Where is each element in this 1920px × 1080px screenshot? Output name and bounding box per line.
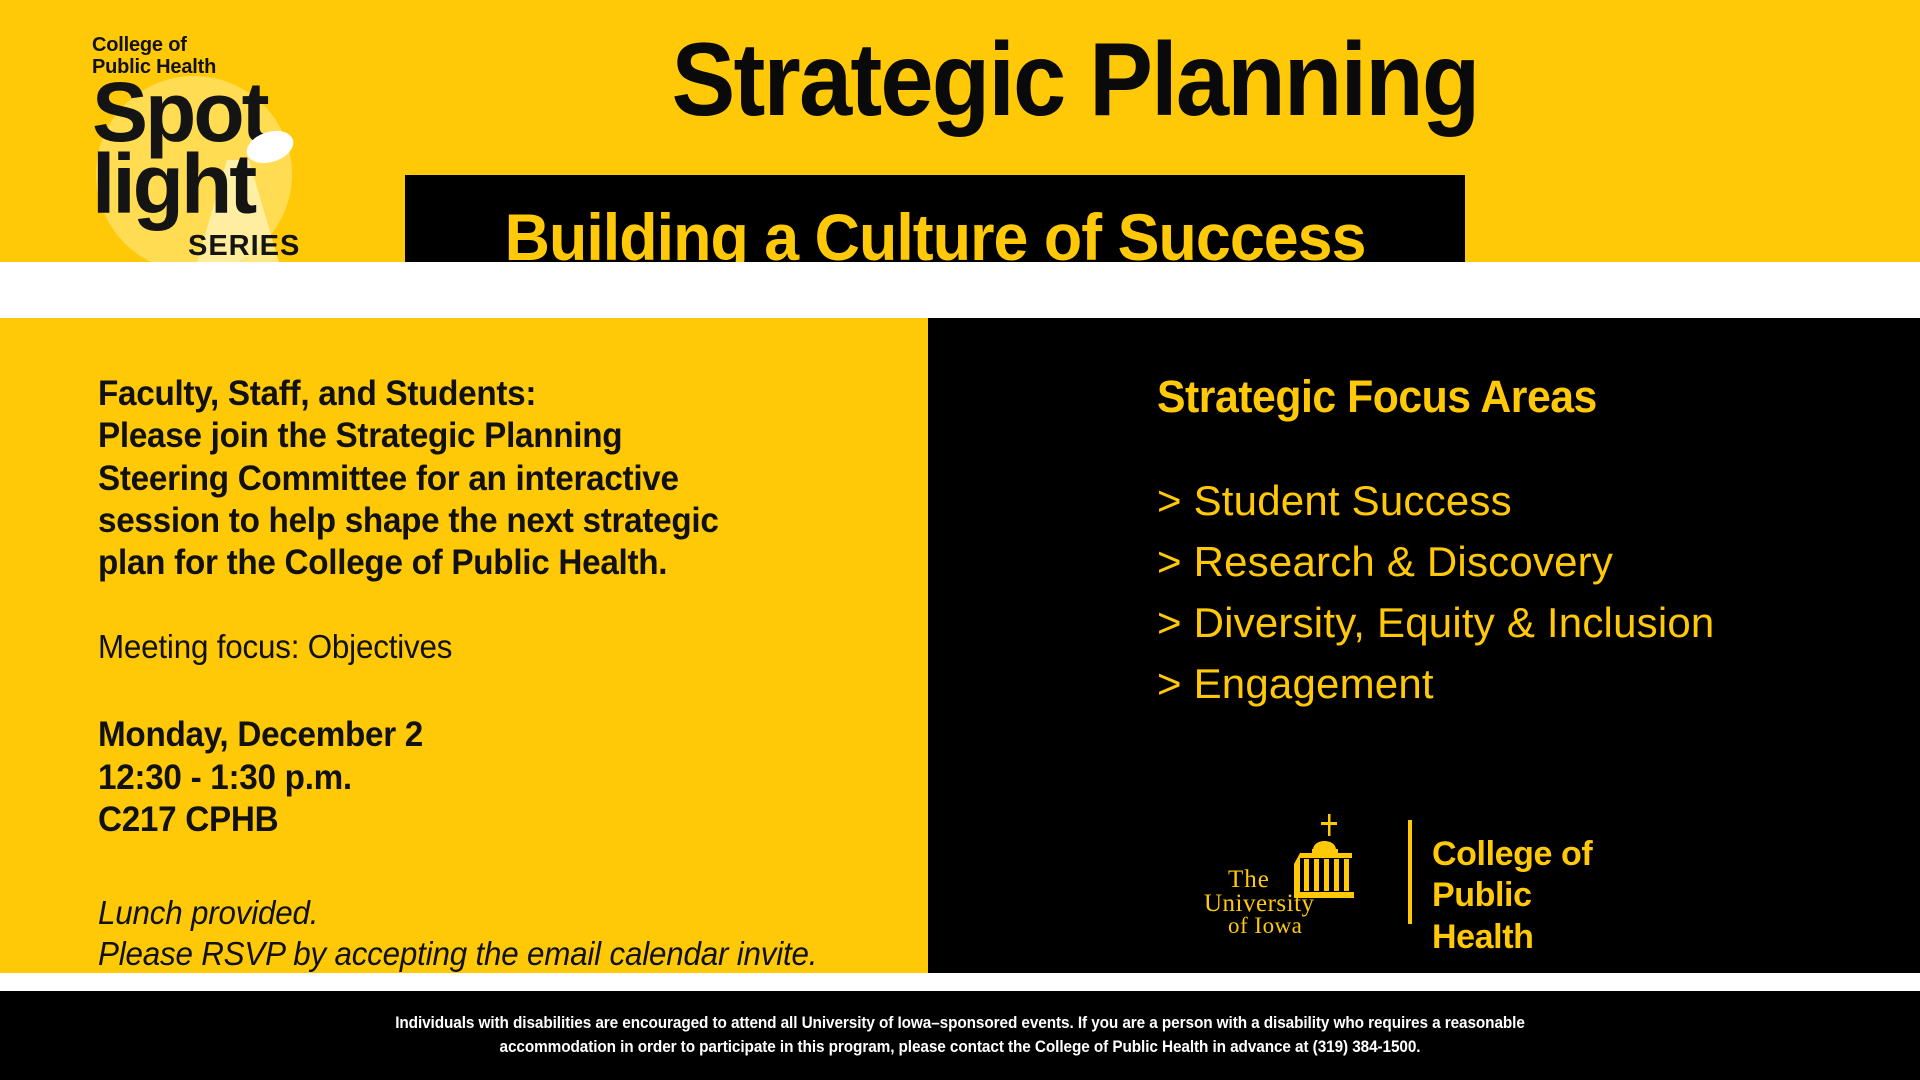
iowa-college-line1: College of bbox=[1432, 835, 1592, 873]
old-capitol-icon: The University of Iowa bbox=[1200, 812, 1400, 932]
footer-band: Individuals with disabilities are encour… bbox=[0, 991, 1920, 1080]
invitation-text: Faculty, Staff, and Students:Please join… bbox=[98, 373, 858, 585]
rsvp-text: Lunch provided.Please RSVP by accepting … bbox=[98, 893, 858, 974]
divider-stripe-top bbox=[0, 262, 1920, 318]
university-of-iowa-logo: The University of Iowa College ofPublic … bbox=[1200, 812, 1620, 932]
page-subtitle: Building a Culture of Success bbox=[505, 204, 1366, 270]
logo-college-line1: College of bbox=[92, 34, 187, 56]
logo-divider bbox=[1408, 820, 1412, 924]
iowa-college-line2: Public Health bbox=[1432, 876, 1534, 955]
divider-stripe-bottom bbox=[0, 973, 1920, 991]
list-item: > Student Success bbox=[1157, 471, 1714, 532]
details-panel: Faculty, Staff, and Students:Please join… bbox=[0, 318, 928, 973]
logo-word-light: light bbox=[92, 150, 254, 219]
date-time-location-text: Monday, December 212:30 - 1:30 p.m.C217 … bbox=[98, 714, 858, 841]
focus-areas-heading: Strategic Focus Areas bbox=[1157, 371, 1597, 423]
event-flyer: College ofPublic Health Spot light SERIE… bbox=[0, 0, 1920, 1080]
logo-word-series: SERIES bbox=[188, 230, 300, 263]
page-title: Strategic Planning bbox=[390, 28, 1761, 132]
iowa-college-name: College ofPublic Health bbox=[1432, 834, 1620, 958]
accessibility-disclaimer: Individuals with disabilities are encour… bbox=[356, 1012, 1565, 1059]
details-body: Faculty, Staff, and Students:Please join… bbox=[98, 373, 898, 974]
list-item: > Research & Discovery bbox=[1157, 532, 1714, 593]
list-item: > Diversity, Equity & Inclusion bbox=[1157, 593, 1714, 654]
focus-areas-list: > Student Success > Research & Discovery… bbox=[1157, 471, 1714, 715]
meeting-focus-text: Meeting focus: Objectives bbox=[98, 627, 858, 667]
iowa-word-of-iowa: of Iowa bbox=[1228, 913, 1302, 939]
list-item: > Engagement bbox=[1157, 654, 1714, 715]
header-band: College ofPublic Health Spot light SERIE… bbox=[0, 0, 1920, 262]
spotlight-series-logo: College ofPublic Health Spot light SERIE… bbox=[78, 28, 328, 288]
